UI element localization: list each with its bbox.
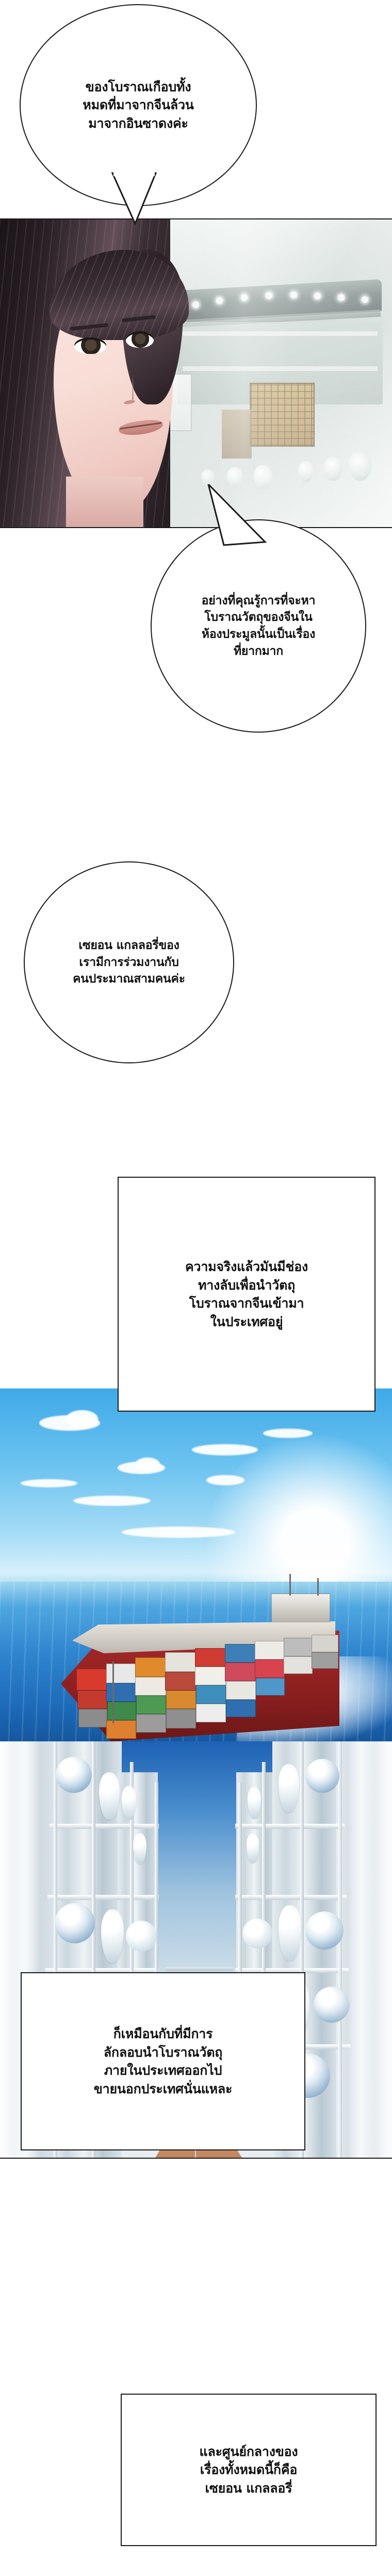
shipping-container [165,1672,196,1690]
shipping-container [195,1667,226,1685]
cloud [66,1410,98,1428]
shelf-board [47,1895,159,1900]
shipping-container [196,1704,226,1722]
shipping-container [106,1720,136,1739]
shipping-container [78,1709,107,1727]
shipping-container [284,1638,313,1656]
caption-box-5: ก็เหมือนกับที่มีการ ลักลอบนำโบราณวัตถุ ภ… [21,1972,305,2150]
shipping-container [166,1690,196,1709]
cloud [73,1496,151,1506]
neck [66,477,143,528]
porcelain-plate [242,1919,272,1948]
shipping-container [225,1663,256,1681]
shipping-container [284,1656,313,1674]
cloud [122,1527,235,1538]
shipping-container [255,1641,285,1659]
webtoon-page: ของโบราณเกือบทั้ง หมดที่มาจากจีนล้วน มาจ… [0,0,392,2576]
shipping-container [255,1659,285,1678]
caption-box-6-text: และศูนย์กลางของ เรื่องทั้งหมดนี้ก็คือ เซ… [135,2443,362,2498]
caption-box-4-text: ความจริงแล้วมันมีช่อง ทางลับเพื่อนำวัตถุ… [133,1258,360,1331]
shipping-container [136,1696,166,1714]
ship-bridge [271,1594,330,1622]
shipping-container [136,1714,166,1733]
shipping-container [195,1648,226,1667]
shipping-container [196,1685,226,1704]
panel-warehouse-bottom-border [0,2158,392,2159]
shipping-container [76,1669,107,1690]
ship-mast [112,1662,114,1723]
cloud [135,1458,160,1471]
shipping-container [135,1657,166,1677]
caption-box-6: และศูนย์กลางของ เรื่องทั้งหมดนี้ก็คือ เซ… [121,2394,377,2546]
shipping-container [256,1678,285,1696]
speech-bubble-2-text: อย่างที่คุณรู้การที่จะหา โบราณวัตถุของจี… [166,592,351,660]
ceiling-crossbeam [165,1967,233,1971]
speech-bubble-2-tail [199,484,271,556]
eye-left [74,337,106,354]
ship-mast [317,1578,319,1596]
shipping-container [226,1681,256,1700]
caption-box-4: ความจริงแล้วมันมีช่อง ทางลับเพื่อนำวัตถุ… [118,1177,375,1412]
cloud [206,1475,244,1485]
speech-bubble-1-tail [108,170,170,227]
speech-bubble-3-text: เซยอน แกลลอรี่ของ เรามีการร่วมงานกับ คนป… [38,937,220,988]
porcelain-plate [126,1921,157,1952]
shipping-container [165,1652,196,1672]
nose [132,374,134,400]
cloud [192,1444,258,1455]
shipping-container [226,1700,256,1717]
cloud [21,1479,77,1487]
panel-portrait-bottom-border [0,527,392,528]
shipping-container [225,1644,256,1663]
panel-ship [0,1388,392,1741]
shelf-board [235,1824,345,1829]
panel-portrait [0,219,392,528]
shipping-container [135,1677,166,1696]
shipping-container [106,1683,136,1702]
caption-box-5-text: ก็เหมือนกับที่มีการ ลักลอบนำโบราณวัตถุ ภ… [34,2025,292,2098]
speech-bubble-3: เซยอน แกลลอรี่ของ เรามีการร่วมงานกับ คนป… [24,861,234,1063]
shipping-container [77,1690,107,1709]
shipping-container [312,1635,338,1652]
shipping-container [166,1709,196,1728]
shipping-container [107,1702,136,1720]
shipping-container [312,1652,338,1669]
shelf-board [50,1824,159,1829]
speech-bubble-1-text: ของโบราณเกือบทั้ง หมดที่มาจากจีนล้วน มาจ… [35,78,241,133]
shipping-container [106,1664,136,1683]
panel-portrait-top-border [0,218,392,219]
cloud [263,1429,313,1438]
right-light-glow [330,1741,392,2159]
ship-mast [289,1574,291,1596]
eye-right [126,331,154,348]
